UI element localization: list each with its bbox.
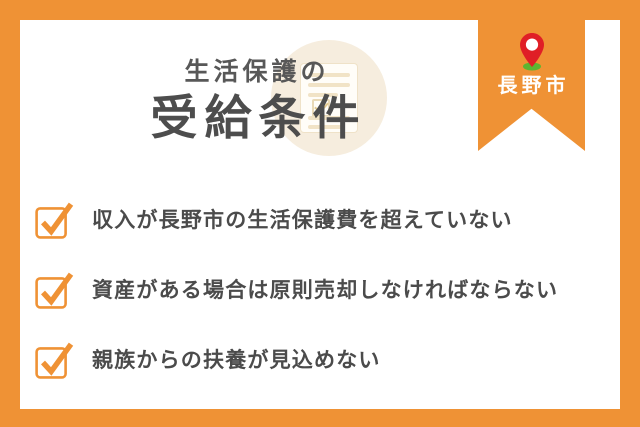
list-item: 資産がある場合は原則売却しなければならない xyxy=(20,256,620,326)
title-heading: 受給条件 xyxy=(144,94,367,141)
checkbox-checked-icon xyxy=(34,201,74,241)
list-item: 収入が長野市の生活保護費を超えていない xyxy=(20,186,620,256)
list-item-label: 資産がある場合は原則売却しなければならない xyxy=(92,278,558,303)
title-subheading: 生活保護の xyxy=(180,60,329,85)
city-name-label: 長野市 xyxy=(478,76,585,96)
page-title: 生活保護の 受給条件 xyxy=(20,20,490,180)
checkbox-checked-icon xyxy=(34,271,74,311)
city-ribbon-badge: 長野市 xyxy=(478,0,585,151)
white-card: 生活保護の 受給条件 長野市 収入が長野市の生活保護費を超えてい xyxy=(20,20,620,409)
infographic-canvas: 生活保護の 受給条件 長野市 収入が長野市の生活保護費を超えてい xyxy=(0,0,640,427)
checkbox-checked-icon xyxy=(34,341,74,381)
map-pin-icon xyxy=(515,31,549,71)
list-item-label: 親族からの扶養が見込めない xyxy=(92,348,381,373)
list-item-label: 収入が長野市の生活保護費を超えていない xyxy=(92,208,513,233)
requirements-list: 収入が長野市の生活保護費を超えていない 資産がある場合は原則売却しなければならな… xyxy=(20,186,620,396)
list-item: 親族からの扶養が見込めない xyxy=(20,326,620,396)
header: 生活保護の 受給条件 長野市 xyxy=(20,20,620,180)
